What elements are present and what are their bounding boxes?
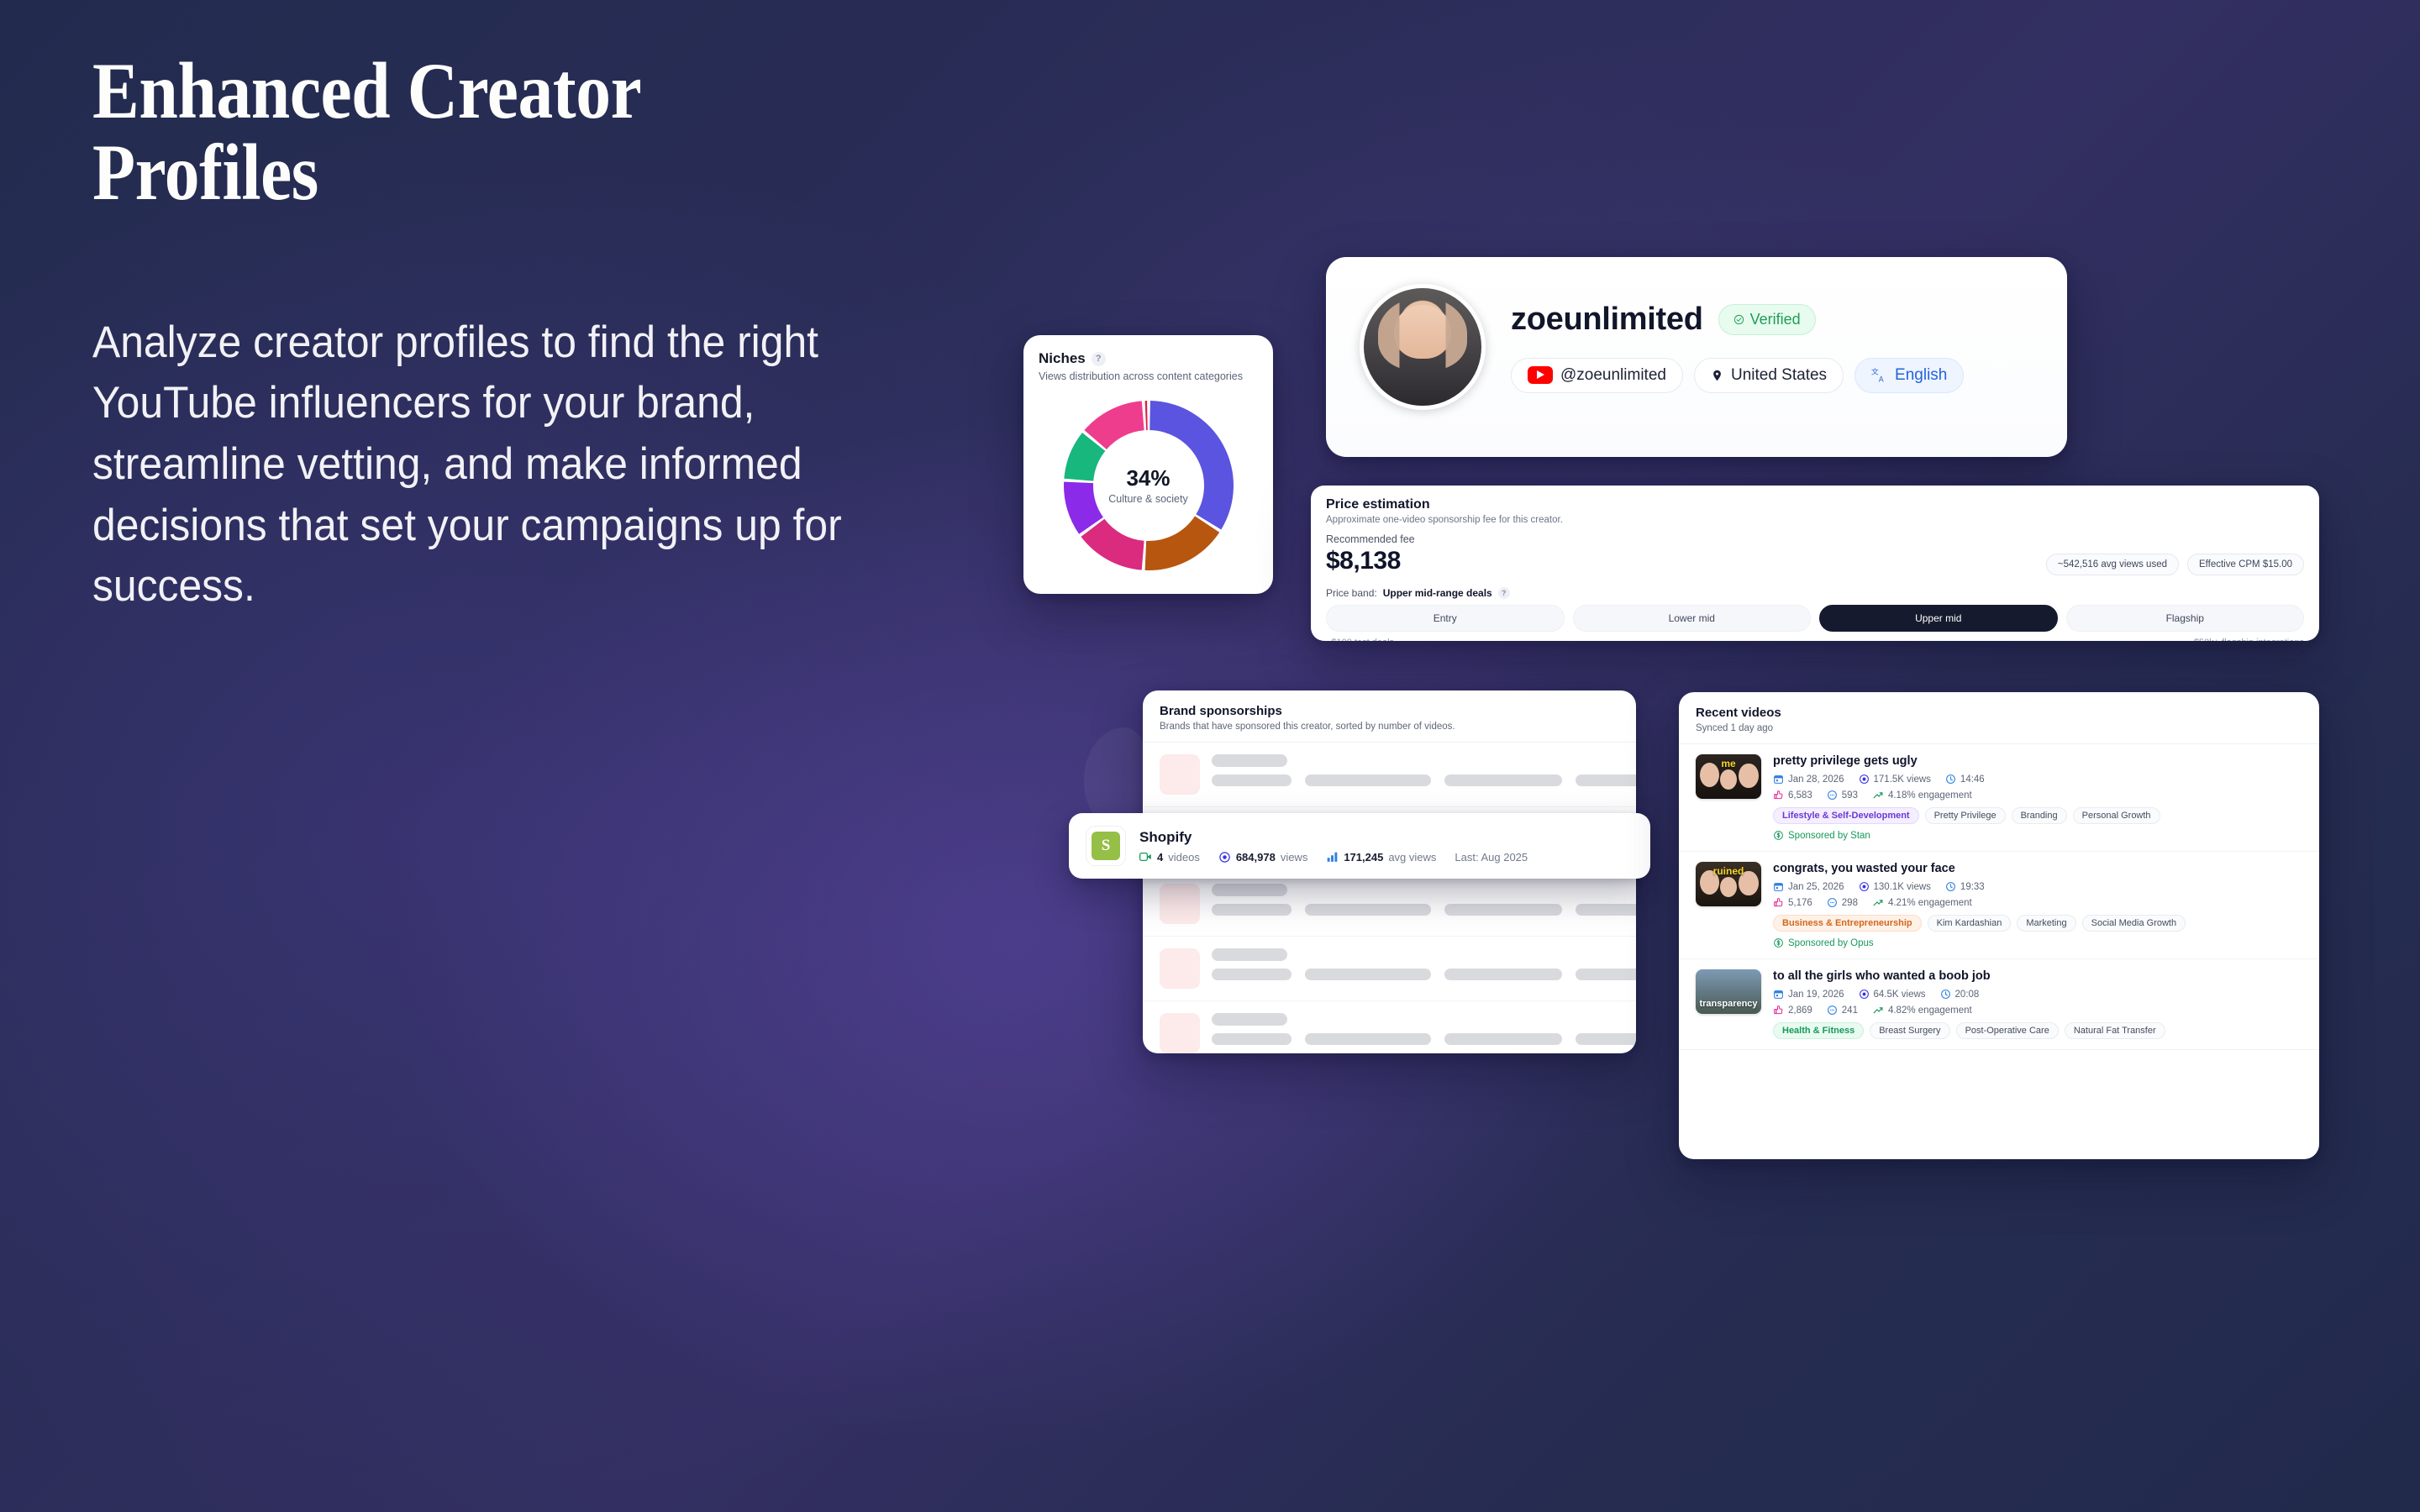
video-comments: 298: [1827, 897, 1858, 908]
video-likes: 6,583: [1773, 790, 1812, 801]
skeleton-line: [1305, 969, 1431, 980]
video-category-tag[interactable]: Lifestyle & Self-Development: [1773, 807, 1919, 824]
brand-logo-placeholder: [1160, 884, 1200, 924]
skeleton-line: [1212, 904, 1292, 916]
handle-label: @zoeunlimited: [1560, 366, 1666, 385]
video-meta-secondary: 6,5835934.18% engagement: [1773, 790, 2302, 801]
calendar-icon: [1773, 881, 1784, 892]
shopify-avg-views-stat: 171,245 avg views: [1326, 851, 1436, 864]
cpm-pill: Effective CPM $15.00: [2187, 554, 2304, 575]
video-list-item[interactable]: mepretty privilege gets uglyJan 28, 2026…: [1679, 744, 2319, 852]
thumbnail-text: me: [1696, 758, 1761, 769]
shopify-videos-stat: 4 videos: [1139, 851, 1200, 864]
price-title: Price estimation: [1326, 497, 2304, 512]
video-tag[interactable]: Breast Surgery: [1870, 1022, 1949, 1039]
sponsorship-row-placeholder[interactable]: [1143, 743, 1636, 807]
video-views: 130.1K views: [1859, 881, 1931, 892]
skeleton-lines: [1212, 1013, 1636, 1045]
video-info: pretty privilege gets uglyJan 28, 202617…: [1773, 754, 2302, 841]
help-icon[interactable]: ?: [1498, 587, 1510, 599]
clock-icon: [1940, 989, 1951, 1000]
youtube-icon: [1528, 366, 1553, 384]
skeleton-line: [1576, 969, 1636, 980]
recommended-fee-label: Recommended fee: [1326, 533, 1415, 545]
verified-label: Verified: [1750, 311, 1801, 328]
video-camera-icon: [1139, 852, 1152, 862]
comment-icon: [1827, 790, 1838, 801]
help-icon[interactable]: ?: [1092, 352, 1106, 366]
brand-logo-placeholder: [1160, 1013, 1200, 1053]
skeleton-line: [1576, 904, 1636, 916]
recommended-fee-value: $8,138: [1326, 547, 1415, 575]
video-duration: 20:08: [1940, 989, 1980, 1000]
video-info: to all the girls who wanted a boob jobJa…: [1773, 969, 2302, 1039]
eye-icon: [1859, 881, 1870, 892]
skeleton-line: [1576, 774, 1636, 786]
price-band-value: Upper mid-range deals: [1383, 587, 1492, 599]
video-engagement: 4.18% engagement: [1872, 790, 1972, 801]
comment-icon: [1827, 1005, 1838, 1016]
hero-copy: Enhanced Creator Profiles Analyze creato…: [92, 50, 958, 617]
video-meta-secondary: 5,1762984.21% engagement: [1773, 897, 2302, 908]
skeleton-line: [1212, 754, 1287, 767]
thumbnail-text: ruined: [1696, 865, 1761, 877]
video-engagement: 4.21% engagement: [1872, 897, 1972, 908]
thumbs-up-icon: [1773, 1005, 1784, 1016]
shopify-views-stat: 684,978 views: [1218, 851, 1308, 864]
status-badge: Verified: [1718, 304, 1816, 335]
country-chip[interactable]: United States: [1694, 358, 1844, 393]
price-band-segment[interactable]: Flagship: [2066, 605, 2305, 632]
video-tags: Lifestyle & Self-DevelopmentPretty Privi…: [1773, 807, 2302, 824]
skeleton-line: [1212, 1033, 1292, 1045]
price-band-segment[interactable]: Entry: [1326, 605, 1565, 632]
video-list-item[interactable]: transparencyto all the girls who wanted …: [1679, 959, 2319, 1050]
shopify-logo-icon: S: [1086, 826, 1126, 866]
video-date: Jan 25, 2026: [1773, 881, 1844, 892]
creator-name: zoeunlimited: [1511, 302, 1703, 338]
recent-videos-list: mepretty privilege gets uglyJan 28, 2026…: [1679, 744, 2319, 1050]
niches-card: Niches ? Views distribution across conte…: [1023, 335, 1273, 594]
donut-center: 34% Culture & society: [1096, 433, 1202, 538]
video-comments: 593: [1827, 790, 1858, 801]
skeleton-line-group: [1212, 904, 1636, 916]
video-likes: 2,869: [1773, 1005, 1812, 1016]
language-label: English: [1895, 366, 1947, 385]
donut-segment[interactable]: [1144, 401, 1147, 430]
video-date: Jan 19, 2026: [1773, 989, 1844, 1000]
skeleton-line: [1212, 948, 1287, 961]
thumbnail-text: transparency: [1696, 999, 1761, 1009]
skeleton-lines: [1212, 948, 1636, 980]
video-tag[interactable]: Pretty Privilege: [1925, 807, 2006, 824]
video-meta-primary: Jan 28, 2026171.5K views14:46: [1773, 774, 2302, 785]
donut-center-label: Culture & society: [1108, 493, 1187, 505]
video-date: Jan 28, 2026: [1773, 774, 1844, 785]
price-band-max-label: $50k+ flagship integrations: [2194, 638, 2304, 641]
video-tag[interactable]: Personal Growth: [2073, 807, 2160, 824]
svg-text:A: A: [1879, 375, 1884, 383]
hero-description: Analyze creator profiles to find the rig…: [92, 312, 882, 617]
eye-icon: [1218, 851, 1231, 864]
video-title: to all the girls who wanted a boob job: [1773, 969, 2302, 983]
video-title: pretty privilege gets ugly: [1773, 754, 2302, 768]
video-thumbnail[interactable]: transparency: [1696, 969, 1761, 1014]
video-meta-primary: Jan 25, 2026130.1K views19:33: [1773, 881, 2302, 892]
skeleton-line: [1444, 969, 1562, 980]
trend-up-icon: [1872, 1005, 1884, 1016]
video-views: 64.5K views: [1859, 989, 1926, 1000]
video-sponsored-label: Sponsored by Opus: [1773, 937, 2302, 948]
comment-icon: [1827, 897, 1838, 908]
video-tags: Business & EntrepreneurshipKim Kardashia…: [1773, 915, 2302, 932]
video-tag[interactable]: Kim Kardashian: [1928, 915, 2012, 932]
youtube-handle-chip[interactable]: @zoeunlimited: [1511, 358, 1683, 393]
shopify-views-value: 684,978: [1236, 851, 1276, 864]
avatar: [1360, 284, 1486, 410]
price-band-segment[interactable]: Upper mid: [1819, 605, 2058, 632]
location-pin-icon: [1711, 368, 1723, 383]
skeleton-line: [1212, 884, 1287, 896]
video-meta-secondary: 2,8692414.82% engagement: [1773, 1005, 2302, 1016]
calendar-icon: [1773, 989, 1784, 1000]
skeleton-line-group: [1212, 969, 1636, 980]
shopify-sponsor-row[interactable]: S Shopify 4 videos 684,978 views: [1069, 813, 1650, 879]
skeleton-line: [1576, 1033, 1636, 1045]
skeleton-line: [1444, 1033, 1562, 1045]
video-meta-primary: Jan 19, 202664.5K views20:08: [1773, 989, 2302, 1000]
shopify-views-label: views: [1281, 851, 1308, 864]
video-views: 171.5K views: [1859, 774, 1931, 785]
skeleton-line: [1444, 774, 1562, 786]
clock-icon: [1945, 881, 1956, 892]
eye-icon: [1859, 774, 1870, 785]
shopify-last-date: Last: Aug 2025: [1455, 851, 1528, 864]
clock-icon: [1945, 774, 1956, 785]
avg-views-pill: ~542,516 avg views used: [2046, 554, 2179, 575]
skeleton-lines: [1212, 754, 1636, 786]
sponsorships-list: [1143, 743, 1636, 1053]
dollar-circle-icon: [1773, 830, 1784, 841]
shopify-avg-label: avg views: [1388, 851, 1436, 864]
donut-center-percent: 34%: [1126, 467, 1170, 489]
price-band-label: Price band:: [1326, 587, 1377, 599]
translate-icon: 文 A: [1871, 367, 1887, 383]
bar-chart-icon: [1326, 851, 1339, 863]
video-tag[interactable]: Post-Operative Care: [1956, 1022, 2059, 1039]
page-title: Enhanced Creator Profiles: [92, 50, 854, 213]
price-band-min-label: ~$100 test deals: [1326, 638, 1394, 641]
sponsorships-subtitle: Brands that have sponsored this creator,…: [1160, 722, 1619, 732]
skeleton-line: [1305, 774, 1431, 786]
video-title: congrats, you wasted your face: [1773, 862, 2302, 875]
video-tag[interactable]: Branding: [2012, 807, 2067, 824]
skeleton-line-group: [1212, 1033, 1636, 1045]
video-engagement: 4.82% engagement: [1872, 1005, 1972, 1016]
shopify-videos-label: videos: [1168, 851, 1200, 864]
niches-subtitle: Views distribution across content catego…: [1039, 370, 1258, 382]
video-sponsored-label: Sponsored by Stan: [1773, 830, 2302, 841]
price-band-segments[interactable]: EntryLower midUpper midFlagship: [1326, 605, 2304, 632]
sponsorship-row-placeholder[interactable]: [1143, 937, 1636, 1001]
video-tags: Health & FitnessBreast SurgeryPost-Opera…: [1773, 1022, 2302, 1039]
skeleton-line: [1212, 774, 1292, 786]
skeleton-line: [1444, 904, 1562, 916]
calendar-icon: [1773, 774, 1784, 785]
video-duration: 14:46: [1945, 774, 1985, 785]
brand-logo-placeholder: [1160, 754, 1200, 795]
skeleton-line: [1212, 1013, 1287, 1026]
video-comments: 241: [1827, 1005, 1858, 1016]
niches-donut-chart[interactable]: 34% Culture & society: [1055, 392, 1242, 579]
video-info: congrats, you wasted your faceJan 25, 20…: [1773, 862, 2302, 948]
skeleton-line: [1305, 1033, 1431, 1045]
video-category-tag[interactable]: Business & Entrepreneurship: [1773, 915, 1922, 932]
trend-up-icon: [1872, 790, 1884, 801]
recent-videos-title: Recent videos: [1696, 706, 2302, 720]
sponsorship-row-placeholder[interactable]: [1143, 1001, 1636, 1053]
thumbs-up-icon: [1773, 790, 1784, 801]
eye-icon: [1859, 989, 1870, 1000]
recent-videos-subtitle: Synced 1 day ago: [1696, 723, 2302, 733]
video-category-tag[interactable]: Health & Fitness: [1773, 1022, 1864, 1039]
niches-title: Niches: [1039, 350, 1086, 367]
creator-profile-card: zoeunlimited Verified @zoeunlimited: [1326, 257, 2067, 457]
video-duration: 19:33: [1945, 881, 1985, 892]
country-label: United States: [1731, 366, 1827, 385]
video-list-item[interactable]: ruinedcongrats, you wasted your faceJan …: [1679, 852, 2319, 959]
price-band-segment[interactable]: Lower mid: [1573, 605, 1812, 632]
video-tag[interactable]: Natural Fat Transfer: [2065, 1022, 2165, 1039]
thumbs-up-icon: [1773, 897, 1784, 908]
video-likes: 5,176: [1773, 897, 1812, 908]
language-chip[interactable]: 文 A English: [1854, 358, 1964, 393]
skeleton-line-group: [1212, 774, 1636, 786]
skeleton-line: [1305, 904, 1431, 916]
price-subtitle: Approximate one-video sponsorship fee fo…: [1326, 515, 2304, 525]
shopify-brand-name: Shopify: [1139, 829, 1528, 846]
shopify-logo-letter: S: [1092, 832, 1120, 860]
shopify-avg-value: 171,245: [1344, 851, 1383, 864]
svg-text:文: 文: [1871, 367, 1879, 377]
sponsorship-row-placeholder[interactable]: [1143, 872, 1636, 937]
trend-up-icon: [1872, 897, 1884, 908]
shopify-videos-value: 4: [1157, 851, 1163, 864]
brand-logo-placeholder: [1160, 948, 1200, 989]
niches-header: Niches ?: [1039, 350, 1258, 367]
price-estimation-card: Price estimation Approximate one-video s…: [1311, 486, 2319, 641]
sponsorships-title: Brand sponsorships: [1160, 704, 1619, 718]
video-thumbnail[interactable]: ruined: [1696, 862, 1761, 906]
video-tag[interactable]: Social Media Growth: [2082, 915, 2186, 932]
skeleton-line: [1212, 969, 1292, 980]
skeleton-lines: [1212, 884, 1636, 916]
video-thumbnail[interactable]: me: [1696, 754, 1761, 799]
dollar-circle-icon: [1773, 937, 1784, 948]
video-tag[interactable]: Marketing: [2017, 915, 2075, 932]
check-circle-icon: [1733, 314, 1744, 325]
recent-videos-card: Recent videos Synced 1 day ago mepretty …: [1679, 692, 2319, 1159]
